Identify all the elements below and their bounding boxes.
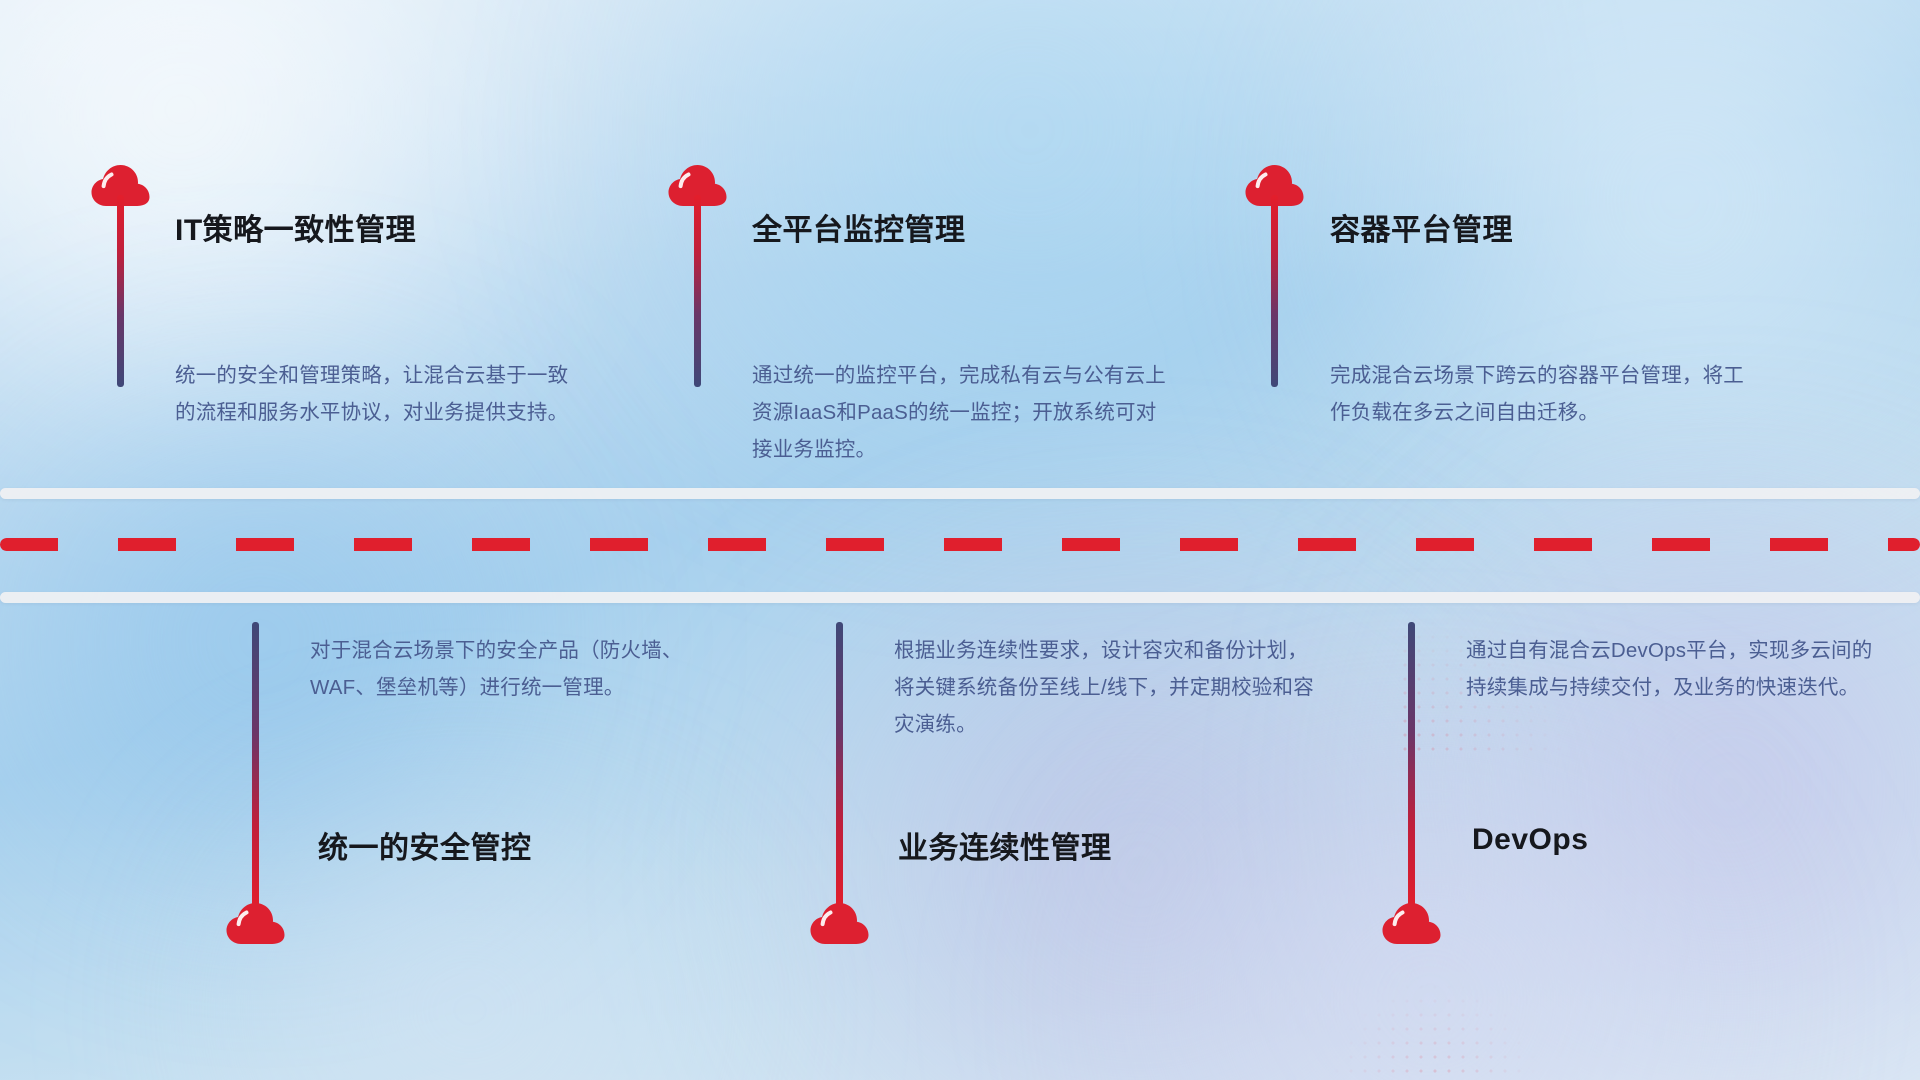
card-title: 全平台监控管理 — [752, 205, 966, 249]
card-title: IT策略一致性管理 — [175, 205, 416, 249]
cloud-icon — [1381, 898, 1443, 946]
card-title: 业务连续性管理 — [898, 823, 1112, 867]
card-title: 统一的安全管控 — [318, 823, 532, 867]
card-body: 统一的安全和管理策略，让混合云基于一致的流程和服务水平协议，对业务提供支持。 — [175, 357, 585, 431]
pin-stem — [1271, 195, 1278, 387]
road-center-dashed-line — [0, 538, 1920, 551]
card-title: DevOps — [1472, 823, 1588, 857]
pin-stem — [836, 622, 843, 912]
pin-stem — [694, 195, 701, 387]
road-edge-bottom — [0, 592, 1920, 603]
card-body: 通过自有混合云DevOps平台，实现多云间的持续集成与持续交付，及业务的快速迭代… — [1466, 632, 1886, 706]
pin-stem — [1408, 622, 1415, 912]
pin-stem — [117, 195, 124, 387]
card-body: 通过统一的监控平台，完成私有云与公有云上资源IaaS和PaaS的统一监控；开放系… — [752, 357, 1177, 468]
card-title: 容器平台管理 — [1330, 205, 1513, 249]
card-body: 对于混合云场景下的安全产品（防火墙、WAF、堡垒机等）进行统一管理。 — [310, 632, 730, 706]
pin-stem — [252, 622, 259, 912]
road-divider — [0, 488, 1920, 608]
road-edge-top — [0, 488, 1920, 499]
cloud-icon — [809, 898, 871, 946]
card-body: 完成混合云场景下跨云的容器平台管理，将工作负载在多云之间自由迁移。 — [1330, 357, 1745, 431]
cloud-icon — [225, 898, 287, 946]
card-body: 根据业务连续性要求，设计容灾和备份计划，将关键系统备份至线上/线下，并定期校验和… — [894, 632, 1314, 743]
